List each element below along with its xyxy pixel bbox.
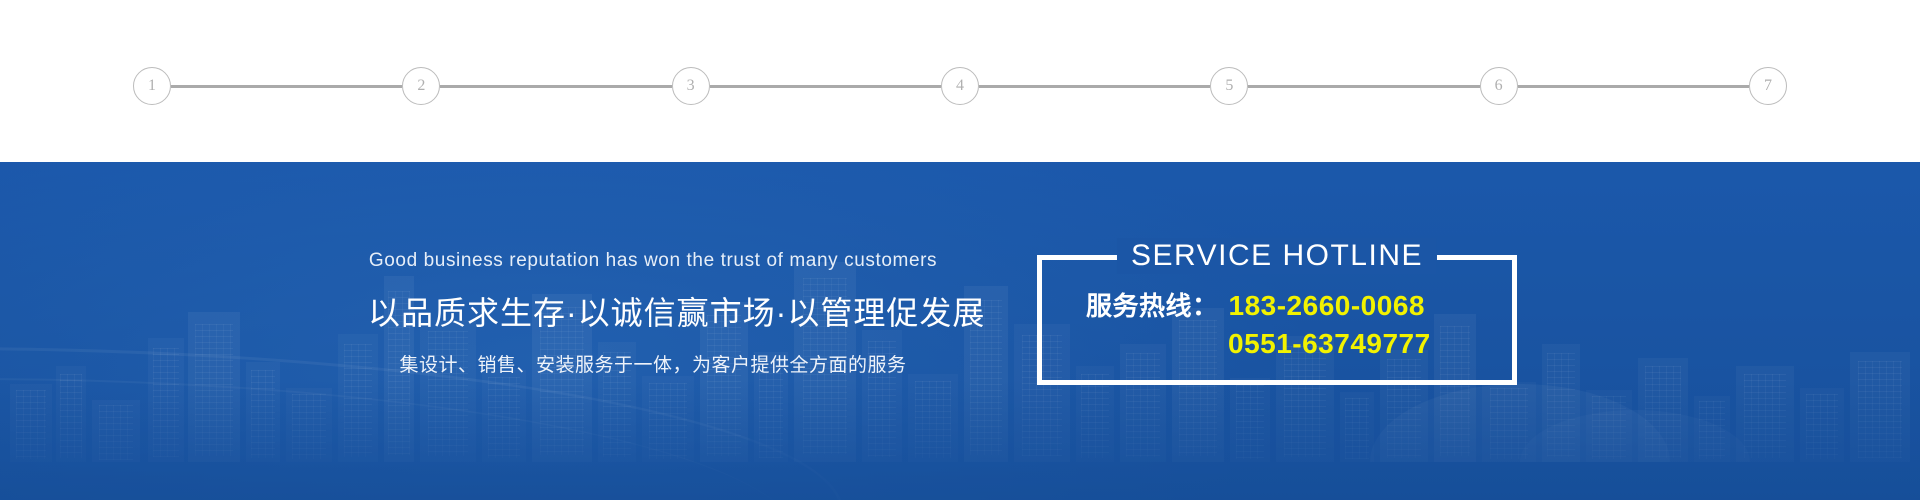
step-node-4[interactable]: 4: [941, 67, 979, 105]
slogan-english: Good business reputation has won the tru…: [368, 250, 938, 272]
step-connector-line: [710, 85, 941, 88]
hotline-number-secondary[interactable]: 0551-63749777: [1228, 328, 1431, 360]
step-connector-line: [1518, 85, 1749, 88]
step-node-label: 5: [1225, 78, 1233, 94]
foreground-haze: [0, 380, 1920, 500]
step-connector-line: [1248, 85, 1479, 88]
step-connector-line: [440, 85, 671, 88]
slogan-chinese-main: 以品质求生存·以诚信赢市场·以管理促发展: [368, 288, 938, 334]
step-node-3[interactable]: 3: [672, 67, 710, 105]
step-node-5[interactable]: 5: [1210, 67, 1248, 105]
hotline-number-primary[interactable]: 183-2660-0068: [1229, 290, 1425, 322]
hotline-label: 服务热线：: [1086, 286, 1219, 323]
step-node-label: 3: [687, 78, 695, 94]
step-node-7[interactable]: 7: [1749, 67, 1787, 105]
step-node-6[interactable]: 6: [1480, 67, 1518, 105]
slogan-chinese-sub: 集设计、销售、安装服务于一体，为客户提供全方面的服务: [368, 350, 938, 377]
step-connector-line: [979, 85, 1210, 88]
service-hotline-box: SERVICE HOTLINE 服务热线： 183-2660-0068 0551…: [1037, 255, 1517, 385]
step-node-2[interactable]: 2: [402, 67, 440, 105]
slogan-block: Good business reputation has won the tru…: [368, 250, 938, 377]
hotline-rows: 服务热线： 183-2660-0068 0551-63749777: [1042, 286, 1512, 370]
step-node-label: 6: [1495, 78, 1503, 94]
hotline-row-primary: 服务热线： 183-2660-0068: [1042, 286, 1512, 328]
step-connector-line: [171, 85, 402, 88]
step-node-label: 7: [1764, 78, 1772, 94]
step-node-1[interactable]: 1: [133, 67, 171, 105]
promo-banner: Good business reputation has won the tru…: [0, 162, 1920, 500]
step-node-label: 4: [956, 78, 964, 94]
service-hotline-title: SERVICE HOTLINE: [1117, 238, 1437, 274]
step-node-label: 1: [148, 78, 156, 94]
step-node-label: 2: [417, 78, 425, 94]
hotline-row-secondary: 0551-63749777: [1042, 328, 1512, 370]
stepper-strip: 1234567: [0, 0, 1920, 162]
